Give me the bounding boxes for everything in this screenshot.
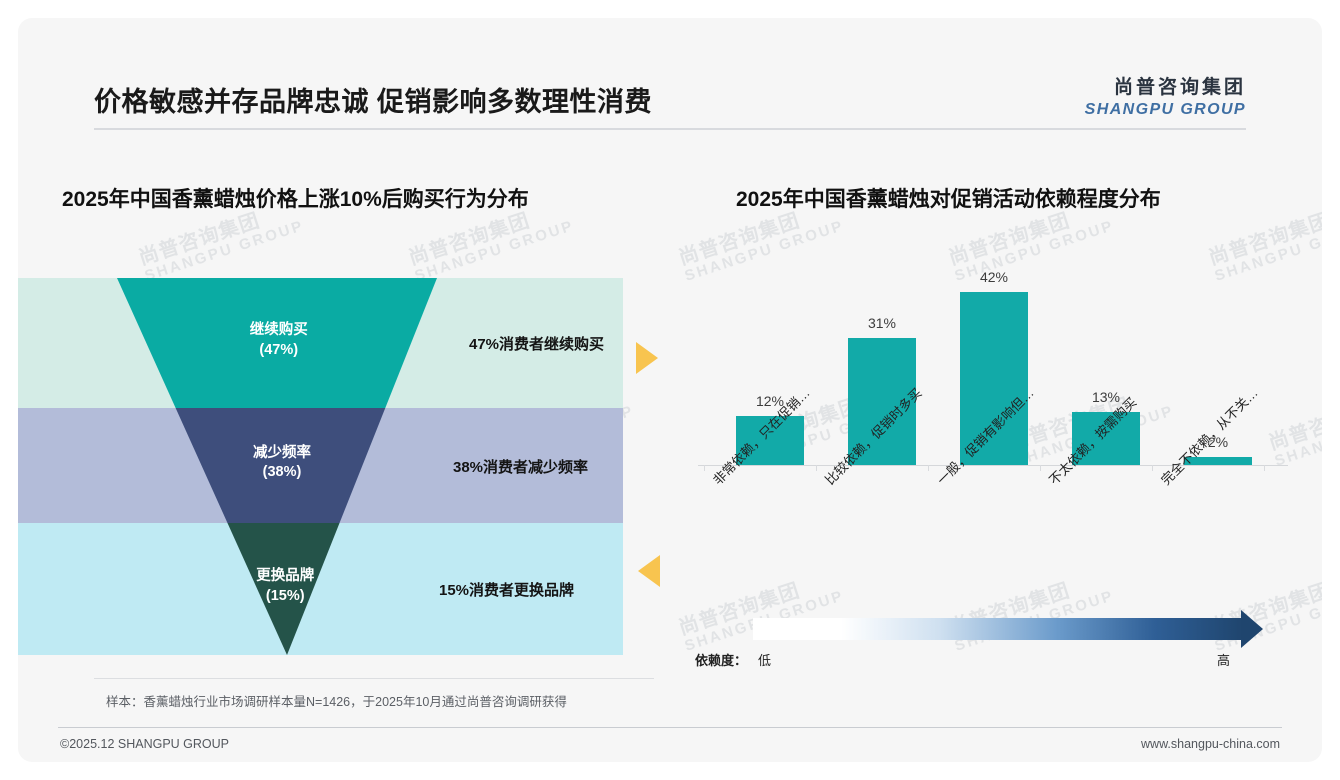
logo-chinese-text: 尚普咨询集团 [1085,76,1246,100]
slide-canvas: 尚普咨询集团SHANGPU GROUP尚普咨询集团SHANGPU GROUP尚普… [18,18,1322,762]
bar-axis-line [698,465,1288,466]
axis-tick [928,465,929,471]
legend-gradient-bar [753,618,1243,640]
right-chart-title: 2025年中国香薰蜡烛对促销活动依赖程度分布 [736,183,1161,213]
legend-arrow-icon [1241,610,1263,648]
axis-tick [1264,465,1265,471]
footnote-text: 样本：香薰蜡烛行业市场调研样本量N=1426，于2025年10月通过尚普咨询调研… [106,691,567,710]
funnel-segment-label: 更换品牌(15%) [215,567,355,606]
axis-tick [1040,465,1041,471]
funnel-segment-value: (47%) [209,341,349,361]
bar-value-label: 42% [980,269,1008,285]
funnel-segment-name: 继续购买 [209,321,349,341]
legend-caption: 依赖度： [695,650,747,669]
funnel-segment-value: (38%) [212,463,352,483]
funnel-panel-caption: 15%消费者更换品牌 [390,579,623,600]
brand-logo: 尚普咨询集团 SHANGPU GROUP [1085,76,1246,119]
pointer-right-icon [636,342,658,374]
funnel-panel-caption: 47%消费者继续购买 [450,333,623,354]
footer-copyright: ©2025.12 SHANGPU GROUP [60,737,229,751]
pointer-left-icon [638,555,660,587]
footer-divider [58,727,1282,728]
funnel-segment-name: 减少频率 [212,444,352,464]
funnel-chart: 继续购买(47%)47%消费者继续购买减少频率(38%)38%消费者减少频率更换… [18,270,678,670]
footnote-divider [94,678,654,679]
slide-header: 价格敏感并存品牌忠诚 促销影响多数理性消费 尚普咨询集团 SHANGPU GRO… [18,18,1322,130]
page-title: 价格敏感并存品牌忠诚 促销影响多数理性消费 [94,80,652,119]
legend-low-label: 低 [758,650,771,669]
logo-english-text: SHANGPU GROUP [1085,100,1246,119]
dependency-legend: 依赖度： 低 高 [698,610,1298,670]
axis-tick [704,465,705,471]
header-divider [94,128,1246,130]
left-chart-title: 2025年中国香薰蜡烛价格上涨10%后购买行为分布 [62,183,529,213]
footer-website: www.shangpu-china.com [1141,737,1280,751]
funnel-segment-name: 更换品牌 [215,567,355,587]
funnel-panel-caption: 38%消费者减少频率 [418,456,623,477]
axis-tick [1152,465,1153,471]
bar-value-label: 31% [868,315,896,331]
funnel-segment-label: 继续购买(47%) [209,321,349,360]
legend-high-label: 高 [1217,650,1230,669]
funnel-segment-label: 减少频率(38%) [212,444,352,483]
axis-tick [816,465,817,471]
funnel-segment-value: (15%) [215,587,355,607]
